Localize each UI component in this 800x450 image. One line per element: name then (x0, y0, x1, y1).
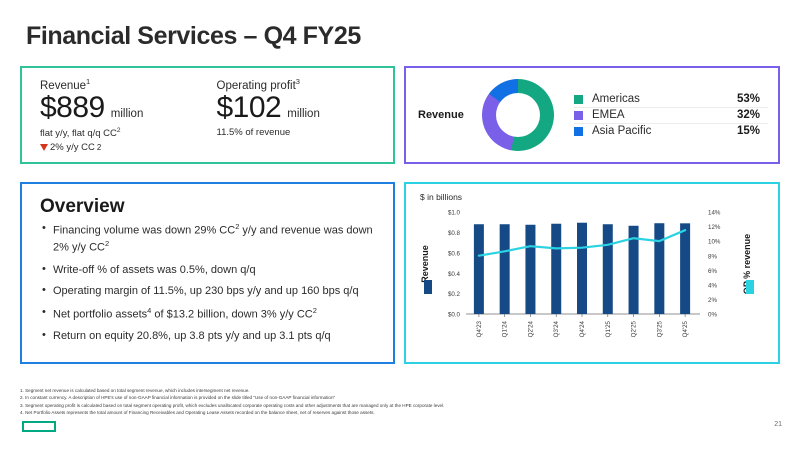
slide: Financial Services – Q4 FY25 Revenue1 $8… (0, 0, 800, 450)
overview-bullet: Financing volume was down 29% CC2 y/y an… (42, 222, 379, 257)
chart-units-label: $ in billions (420, 192, 778, 202)
y-axis-tick-label: $0.8 (448, 230, 461, 237)
x-axis-tick-label: Q2'25 (631, 320, 638, 337)
kpi-panel: Revenue1 $889 million flat y/y, flat q/q… (20, 66, 395, 164)
revenue-op-chart-panel: $ in billions $0.0$0.2$0.4$0.6$0.8$1.00%… (404, 182, 780, 364)
y2-axis-tick-label: 10% (708, 239, 721, 246)
legend-label: Americas (592, 93, 737, 105)
y2-axis-tick-label: 4% (708, 282, 717, 289)
revenue-mix-panel: Revenue Americas53%EMEA32%Asia Pacific15… (404, 66, 780, 164)
triangle-down-icon (40, 144, 48, 151)
footnote-ref: 2 (105, 239, 109, 248)
kpi-op-sub: 11.5% of revenue (217, 127, 394, 140)
donut-legend: Americas53%EMEA32%Asia Pacific15% (574, 92, 768, 139)
x-axis-tick-label: Q4'24 (579, 320, 586, 337)
revenue-legend-swatch-icon (424, 280, 432, 294)
legend-label: Asia Pacific (592, 125, 737, 137)
bar-Q424 (577, 223, 587, 314)
legend-swatch-icon (574, 95, 583, 104)
op-legend-swatch-icon (746, 280, 754, 294)
bullet-text: Return on equity 20.8%, up 3.8 pts y/y a… (53, 330, 331, 342)
legend-swatch-icon (574, 111, 583, 120)
kpi-revenue: Revenue1 $889 million flat y/y, flat q/q… (40, 77, 217, 153)
page-title: Financial Services – Q4 FY25 (26, 22, 361, 51)
legend-swatch-icon (574, 127, 583, 136)
x-axis-tick-label: Q3'25 (656, 320, 663, 337)
y-axis-title: Revenue (420, 245, 430, 283)
kpi-op-label: Operating profit3 (217, 77, 394, 92)
overview-bullet: Operating margin of 11.5%, up 230 bps y/… (42, 284, 379, 300)
x-axis-tick-label: Q1'25 (605, 320, 612, 337)
overview-bullet-list: Financing volume was down 29% CC2 y/y an… (42, 222, 379, 345)
overview-panel: Overview Financing volume was down 29% C… (20, 182, 395, 364)
donut-title: Revenue (418, 109, 480, 121)
x-axis-tick-label: Q4'25 (682, 320, 689, 337)
legend-row: Americas53% (574, 92, 768, 107)
x-axis-tick-label: Q2'24 (527, 320, 534, 337)
y-axis-tick-label: $0.2 (448, 291, 461, 298)
bar-Q325 (654, 223, 664, 314)
revenue-donut-chart (482, 79, 554, 151)
legend-label: EMEA (592, 109, 737, 121)
kpi-list: Revenue1 $889 million flat y/y, flat q/q… (22, 68, 393, 153)
kpi-revenue-sub: flat y/y, flat q/q CC2 (40, 127, 217, 141)
kpi-operating-profit: Operating profit3 $102 million 11.5% of … (217, 77, 394, 153)
legend-row: EMEA32% (574, 107, 768, 123)
kpi-op-footnote-ref: 3 (296, 77, 300, 86)
y-axis-tick-label: $0.6 (448, 250, 461, 257)
kpi-revenue-label: Revenue1 (40, 77, 217, 92)
donut-hole (496, 93, 540, 137)
y-axis-tick-label: $1.0 (448, 210, 461, 217)
kpi-revenue-unit: million (111, 108, 144, 120)
legend-row: Asia Pacific15% (574, 123, 768, 139)
bar-Q125 (603, 224, 613, 314)
bullet-text: Net portfolio assets (53, 308, 147, 320)
y-axis-tick-label: $0.0 (448, 312, 461, 319)
bar-Q224 (525, 225, 535, 314)
hpe-logo (22, 421, 56, 432)
footnote: 4. Net Portfolio Assets represents the t… (20, 409, 780, 416)
x-axis-tick-label: Q3'24 (553, 320, 560, 337)
kpi-revenue-delta: 2% y/y CC2 (40, 142, 217, 153)
footnote-ref: 2 (313, 306, 317, 315)
y2-axis-tick-label: 0% (708, 312, 717, 319)
legend-value: 32% (737, 109, 768, 121)
bullet-text: Write-off % of assets was 0.5%, down q/q (53, 264, 256, 276)
bullet-text: Operating margin of 11.5%, up 230 bps y/… (53, 285, 359, 297)
footnotes: 1. Segment net revenue is calculated bas… (20, 387, 780, 417)
bar-Q423 (474, 224, 484, 314)
y2-axis-tick-label: 6% (708, 268, 717, 275)
y-axis-tick-label: $0.4 (448, 271, 461, 278)
page-number: 21 (774, 421, 782, 428)
y2-axis-tick-label: 12% (708, 224, 721, 231)
legend-value: 15% (737, 125, 768, 137)
footnote: 3. Segment operating profit is calculate… (20, 402, 780, 409)
overview-bullet: Net portfolio assets4 of $13.2 billion, … (42, 306, 379, 323)
bar-Q324 (551, 224, 561, 314)
overview-bullet: Write-off % of assets was 0.5%, down q/q (42, 263, 379, 279)
footnote: 1. Segment net revenue is calculated bas… (20, 387, 780, 394)
kpi-op-value: $102 (217, 91, 282, 125)
kpi-revenue-footnote-ref: 1 (86, 77, 90, 86)
overview-bullet: Return on equity 20.8%, up 3.8 pts y/y a… (42, 329, 379, 345)
bullet-text: Financing volume was down 29% CC (53, 225, 235, 237)
y2-axis-tick-label: 2% (708, 297, 717, 304)
kpi-revenue-value: $889 (40, 91, 105, 125)
y2-axis-tick-label: 8% (708, 253, 717, 260)
bullet-text-cont: of $13.2 billion, down 3% y/y CC (151, 308, 312, 320)
x-axis-tick-label: Q4'23 (476, 320, 483, 337)
y2-axis-tick-label: 14% (708, 210, 721, 217)
bar-Q124 (500, 224, 510, 314)
bar-Q425 (680, 223, 690, 314)
footnote: 2. In constant currency. A description o… (20, 394, 780, 401)
kpi-op-unit: million (287, 108, 320, 120)
legend-value: 53% (737, 93, 768, 105)
revenue-op-combo-chart: $0.0$0.2$0.4$0.6$0.8$1.00%2%4%6%8%10%12%… (406, 202, 778, 350)
overview-title: Overview (40, 196, 393, 218)
x-axis-tick-label: Q1'24 (502, 320, 509, 337)
